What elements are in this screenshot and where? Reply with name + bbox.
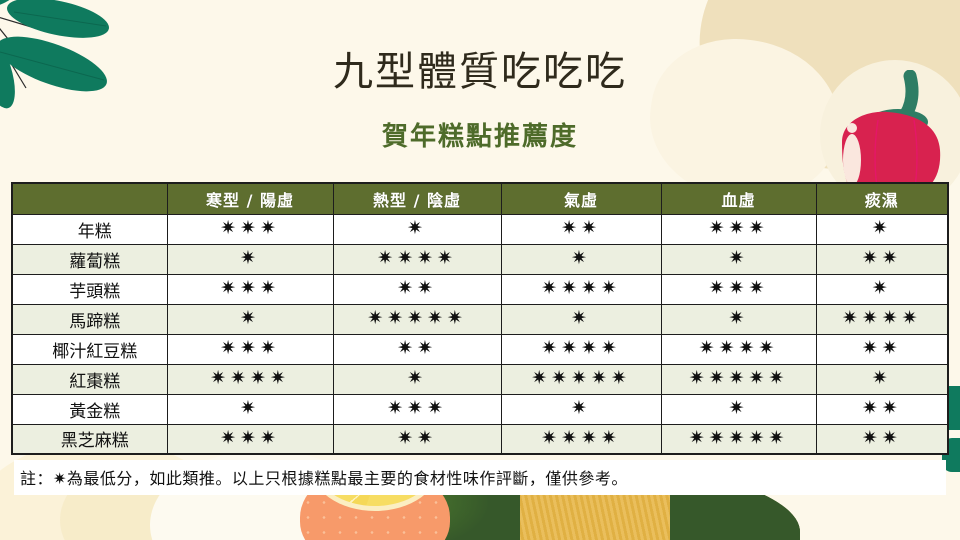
score-stars: ✷ (571, 247, 591, 269)
table-header-row: 寒型 / 陽虛 熱型 / 陰虛 氣虛 血虛 痰濕 (12, 183, 948, 214)
table-row: 芋頭糕✷✷✷✷✷✷✷✷✷✷✷✷✷ (12, 274, 948, 304)
score-cell: ✷✷✷ (661, 214, 816, 244)
score-stars: ✷ (729, 247, 749, 269)
score-cell: ✷✷✷ (167, 334, 333, 364)
score-stars: ✷✷ (862, 247, 902, 269)
score-stars: ✷✷✷ (387, 397, 447, 419)
score-cell: ✷ (816, 214, 948, 244)
column-header-tan-shi: 痰濕 (816, 183, 948, 214)
score-cell: ✷ (661, 394, 816, 424)
score-cell: ✷✷✷✷ (167, 364, 333, 394)
score-stars: ✷ (407, 217, 427, 239)
score-cell: ✷✷✷✷ (501, 424, 661, 454)
table-row: 年糕✷✷✷✷✷✷✷✷✷✷ (12, 214, 948, 244)
table-body: 年糕✷✷✷✷✷✷✷✷✷✷蘿蔔糕✷✷✷✷✷✷✷✷✷芋頭糕✷✷✷✷✷✷✷✷✷✷✷✷✷… (12, 214, 948, 454)
score-stars: ✷ (571, 397, 591, 419)
score-stars: ✷✷✷✷ (842, 307, 922, 329)
score-cell: ✷ (661, 244, 816, 274)
table-row: 紅棗糕✷✷✷✷✷✷✷✷✷✷✷✷✷✷✷✷ (12, 364, 948, 394)
score-stars: ✷✷ (862, 397, 902, 419)
table-row: 椰汁紅豆糕✷✷✷✷✷✷✷✷✷✷✷✷✷✷✷ (12, 334, 948, 364)
score-cell: ✷✷✷ (167, 424, 333, 454)
score-stars: ✷✷✷✷ (210, 367, 290, 389)
score-stars: ✷✷✷✷ (377, 247, 457, 269)
score-cell: ✷ (501, 304, 661, 334)
footnote-text: 註：✷為最低分，如此類推。以上只根據糕點最主要的食材性味作評斷，僅供參考。 (14, 460, 946, 495)
score-stars: ✷✷ (397, 337, 437, 359)
table-row: 蘿蔔糕✷✷✷✷✷✷✷✷✷ (12, 244, 948, 274)
score-cell: ✷✷✷✷ (333, 244, 501, 274)
score-stars: ✷ (872, 367, 892, 389)
score-cell: ✷ (501, 394, 661, 424)
score-cell: ✷✷ (501, 214, 661, 244)
score-stars: ✷✷✷ (709, 277, 769, 299)
score-cell: ✷✷✷✷✷ (661, 364, 816, 394)
score-cell: ✷ (333, 364, 501, 394)
score-stars: ✷✷✷✷✷ (367, 307, 467, 329)
score-stars: ✷ (571, 307, 591, 329)
score-stars: ✷ (729, 307, 749, 329)
score-stars: ✷✷✷ (220, 217, 280, 239)
table-corner-header (12, 183, 167, 214)
score-cell: ✷✷✷✷✷ (661, 424, 816, 454)
table-row: 黃金糕✷✷✷✷✷✷✷✷ (12, 394, 948, 424)
score-stars: ✷✷ (397, 277, 437, 299)
table-row: 馬蹄糕✷✷✷✷✷✷✷✷✷✷✷✷ (12, 304, 948, 334)
row-label: 黃金糕 (12, 394, 167, 424)
score-cell: ✷✷✷✷✷ (501, 364, 661, 394)
score-cell: ✷ (167, 304, 333, 334)
row-label: 椰汁紅豆糕 (12, 334, 167, 364)
score-cell: ✷✷✷✷✷ (333, 304, 501, 334)
row-label: 紅棗糕 (12, 364, 167, 394)
score-cell: ✷✷ (816, 334, 948, 364)
score-cell: ✷✷✷ (167, 214, 333, 244)
score-stars: ✷✷✷✷ (541, 277, 621, 299)
score-stars: ✷✷✷✷✷ (531, 367, 631, 389)
row-label: 黑芝麻糕 (12, 424, 167, 454)
score-cell: ✷✷✷✷ (816, 304, 948, 334)
column-header-qi-xu: 氣虛 (501, 183, 661, 214)
column-header-hot-yin: 熱型 / 陰虛 (333, 183, 501, 214)
score-stars: ✷ (729, 397, 749, 419)
score-cell: ✷✷ (816, 394, 948, 424)
score-cell: ✷✷ (333, 424, 501, 454)
score-cell: ✷ (167, 394, 333, 424)
score-stars: ✷✷ (862, 427, 902, 449)
recommendation-table: 寒型 / 陽虛 熱型 / 陰虛 氣虛 血虛 痰濕 年糕✷✷✷✷✷✷✷✷✷✷蘿蔔糕… (11, 182, 949, 455)
score-stars: ✷✷ (862, 337, 902, 359)
score-stars: ✷✷✷✷✷ (689, 427, 789, 449)
score-cell: ✷✷✷ (333, 394, 501, 424)
score-cell: ✷✷ (816, 424, 948, 454)
score-cell: ✷✷✷ (167, 274, 333, 304)
score-stars: ✷ (240, 397, 260, 419)
score-stars: ✷ (407, 367, 427, 389)
page-subtitle: 賀年糕點推薦度 (0, 116, 960, 153)
column-header-xue-xu: 血虛 (661, 183, 816, 214)
score-stars: ✷✷✷✷✷ (689, 367, 789, 389)
score-stars: ✷✷ (561, 217, 601, 239)
score-stars: ✷✷✷✷ (541, 337, 621, 359)
score-cell: ✷✷ (816, 244, 948, 274)
score-cell: ✷ (167, 244, 333, 274)
score-cell: ✷✷ (333, 274, 501, 304)
table-row: 黑芝麻糕✷✷✷✷✷✷✷✷✷✷✷✷✷✷✷✷ (12, 424, 948, 454)
score-cell: ✷ (816, 274, 948, 304)
score-stars: ✷✷ (397, 427, 437, 449)
score-cell: ✷✷ (333, 334, 501, 364)
score-cell: ✷ (816, 364, 948, 394)
score-cell: ✷ (333, 214, 501, 244)
score-stars: ✷ (240, 307, 260, 329)
row-label: 年糕 (12, 214, 167, 244)
score-cell: ✷✷✷✷ (661, 334, 816, 364)
score-stars: ✷✷✷✷ (541, 427, 621, 449)
score-stars: ✷✷✷ (709, 217, 769, 239)
score-stars: ✷ (872, 217, 892, 239)
score-cell: ✷✷✷✷ (501, 274, 661, 304)
score-cell: ✷ (501, 244, 661, 274)
score-stars: ✷✷✷✷ (699, 337, 779, 359)
score-stars: ✷✷✷ (220, 427, 280, 449)
row-label: 芋頭糕 (12, 274, 167, 304)
score-cell: ✷✷✷ (661, 274, 816, 304)
score-stars: ✷✷✷ (220, 337, 280, 359)
column-header-cold-yang: 寒型 / 陽虛 (167, 183, 333, 214)
page-title: 九型體質吃吃吃 (0, 0, 960, 92)
score-stars: ✷✷✷ (220, 277, 280, 299)
row-label: 馬蹄糕 (12, 304, 167, 334)
score-stars: ✷ (872, 277, 892, 299)
row-label: 蘿蔔糕 (12, 244, 167, 274)
score-stars: ✷ (240, 247, 260, 269)
score-cell: ✷ (661, 304, 816, 334)
score-cell: ✷✷✷✷ (501, 334, 661, 364)
